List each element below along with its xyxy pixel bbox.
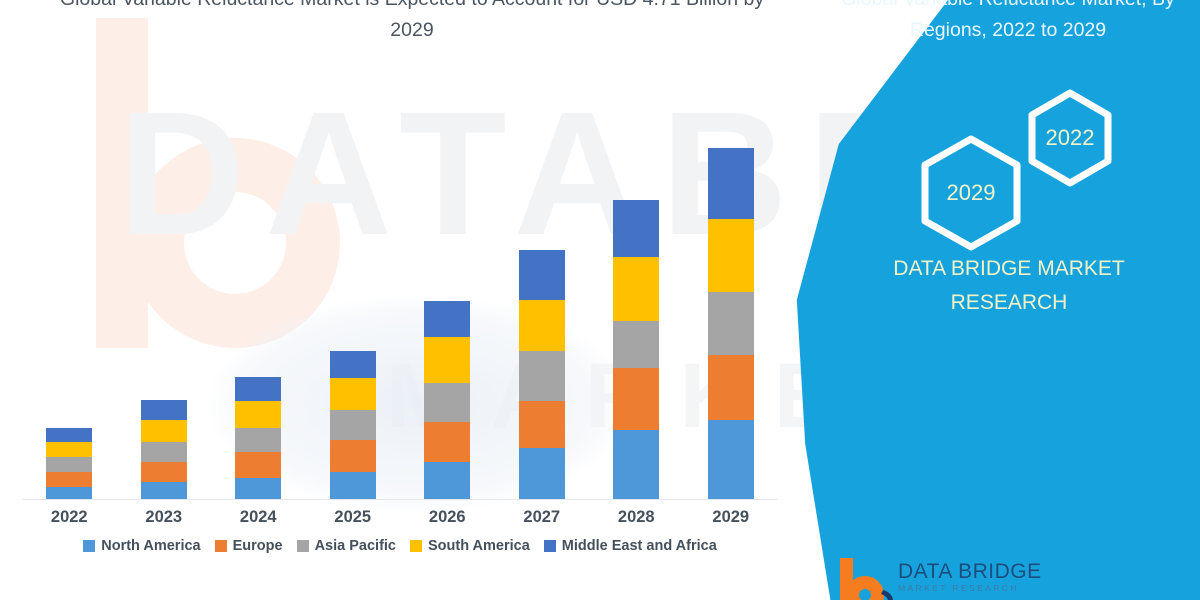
legend-swatch-icon <box>297 540 309 552</box>
bar-column <box>495 100 590 500</box>
legend-label: South America <box>428 538 530 554</box>
bar-stack <box>46 428 92 500</box>
bar-stack <box>519 250 565 500</box>
hexagon-badges: 2029 2022 <box>916 88 1116 220</box>
bar-segment <box>519 250 565 300</box>
x-axis-labels: 20222023202420252026202720282029 <box>22 508 778 527</box>
x-axis-tick-label: 2027 <box>495 508 590 527</box>
right-panel-title: Global Variable Reluctance Market, By Re… <box>824 0 1192 46</box>
bar-stack <box>424 301 470 501</box>
bar-segment <box>708 355 754 420</box>
x-axis-tick-label: 2025 <box>306 508 401 527</box>
bar-column <box>400 100 495 500</box>
x-axis-tick-label: 2024 <box>211 508 306 527</box>
legend-item[interactable]: Asia Pacific <box>297 538 396 554</box>
x-axis-tick-label: 2029 <box>684 508 779 527</box>
legend-label: Middle East and Africa <box>562 538 717 554</box>
legend-swatch-icon <box>215 540 227 552</box>
brand-name: DATA BRIDGE MARKET RESEARCH <box>834 252 1184 320</box>
legend-item[interactable]: South America <box>410 538 530 554</box>
bar-segment <box>424 462 470 500</box>
bar-segment <box>708 219 754 292</box>
bar-segment <box>613 200 659 257</box>
bar-segment <box>46 457 92 472</box>
bar-segment <box>141 420 187 442</box>
bar-segment <box>235 452 281 478</box>
bar-segment <box>424 422 470 462</box>
bar-stack <box>708 148 754 500</box>
x-axis-line <box>22 499 778 500</box>
chart-title: Global Variable Reluctance Market is Exp… <box>48 0 776 46</box>
bar-column <box>211 100 306 500</box>
data-bridge-logo: DATA BRIDGE MARKET RESEARCH <box>834 554 1104 600</box>
legend-label: Europe <box>233 538 283 554</box>
hexagon-badge-2029: 2029 <box>916 134 1026 252</box>
bar-segment <box>46 442 92 457</box>
bar-segment <box>708 420 754 500</box>
x-axis-tick-label: 2023 <box>117 508 212 527</box>
bar-stack <box>613 200 659 500</box>
x-axis-tick-label: 2022 <box>22 508 117 527</box>
logo-subtitle: MARKET RESEARCH <box>898 583 1042 594</box>
logo-title: DATA BRIDGE <box>898 561 1042 583</box>
chart-legend: North AmericaEuropeAsia PacificSouth Ame… <box>22 538 778 554</box>
bar-segment <box>46 472 92 487</box>
bar-column <box>22 100 117 500</box>
logo-wordmark: DATA BRIDGE MARKET RESEARCH <box>898 561 1042 594</box>
bar-segment <box>613 257 659 321</box>
legend-item[interactable]: Middle East and Africa <box>544 538 717 554</box>
bar-segment <box>708 292 754 355</box>
bar-segment <box>141 482 187 500</box>
bar-column <box>684 100 779 500</box>
bar-segment <box>141 400 187 420</box>
hexagon-badge-2029-label: 2029 <box>947 180 996 206</box>
bar-stack <box>141 400 187 500</box>
bar-segment <box>708 148 754 219</box>
bar-segment <box>235 478 281 500</box>
bar-column <box>589 100 684 500</box>
bar-segment <box>613 368 659 430</box>
hexagon-badge-2022: 2022 <box>1024 88 1116 188</box>
infographic-canvas: DATABRIDGE MARKET RESEARCH Global Variab… <box>0 0 1200 600</box>
bar-segment <box>519 401 565 449</box>
bar-segment <box>330 440 376 472</box>
legend-swatch-icon <box>410 540 422 552</box>
bar-segment <box>235 428 281 453</box>
x-axis-tick-label: 2026 <box>400 508 495 527</box>
stacked-bar-group <box>22 100 778 500</box>
legend-swatch-icon <box>544 540 556 552</box>
bar-segment <box>235 401 281 428</box>
bar-segment <box>519 448 565 500</box>
logo-b-mark-icon <box>834 554 888 600</box>
bar-segment <box>613 321 659 367</box>
bar-segment <box>424 337 470 383</box>
bar-segment <box>141 462 187 482</box>
x-axis-tick-label: 2028 <box>589 508 684 527</box>
bar-stack <box>235 377 281 500</box>
bar-segment <box>330 378 376 410</box>
bar-segment <box>519 351 565 401</box>
bar-column <box>117 100 212 500</box>
chart-plot-area <box>22 100 778 500</box>
bar-segment <box>613 430 659 500</box>
bar-segment <box>519 300 565 350</box>
bar-segment <box>46 428 92 443</box>
bar-segment <box>424 301 470 338</box>
legend-item[interactable]: North America <box>83 538 200 554</box>
legend-label: North America <box>101 538 200 554</box>
legend-item[interactable]: Europe <box>215 538 283 554</box>
bar-segment <box>235 377 281 401</box>
bar-column <box>306 100 401 500</box>
bar-stack <box>330 351 376 500</box>
legend-label: Asia Pacific <box>315 538 396 554</box>
bar-segment <box>330 351 376 378</box>
bar-segment <box>424 383 470 422</box>
bar-segment <box>330 410 376 440</box>
bar-segment <box>330 472 376 500</box>
hexagon-badge-2022-label: 2022 <box>1046 125 1095 151</box>
bar-segment <box>141 442 187 462</box>
legend-swatch-icon <box>83 540 95 552</box>
